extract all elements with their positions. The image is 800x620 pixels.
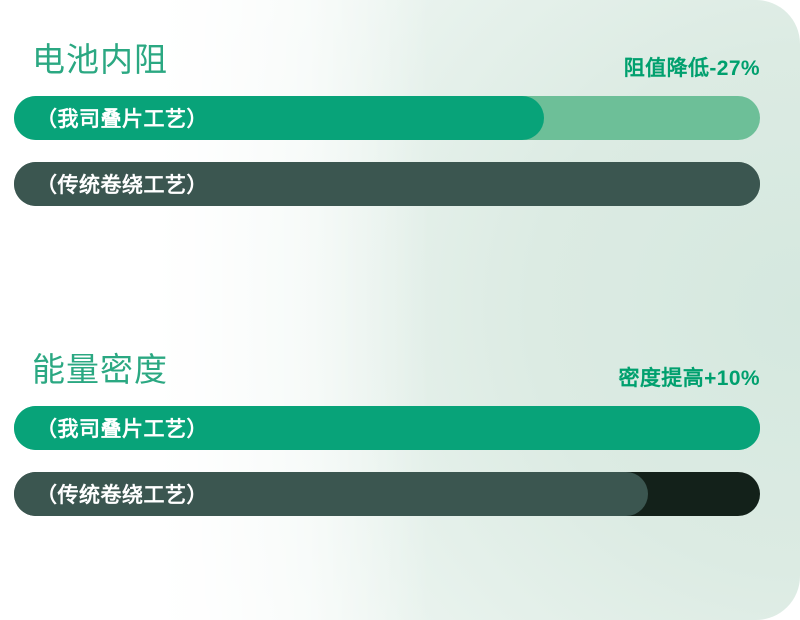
metric-delta-badge: 密度提高+10% [619, 365, 761, 393]
metric-group-internal-resistance: 电池内阻 阻值降低-27% （我司叠片工艺） （传统卷绕工艺） [0, 34, 800, 228]
metric-title: 电池内阻 [32, 38, 168, 82]
bar-list: （我司叠片工艺） （传统卷绕工艺） [0, 96, 800, 228]
bar-label: （传统卷绕工艺） [36, 472, 208, 516]
metric-delta-badge: 阻值降低-27% [624, 55, 760, 83]
metric-group-header: 电池内阻 阻值降低-27% [0, 34, 800, 96]
bar-row: （传统卷绕工艺） [0, 472, 800, 538]
bar-row: （我司叠片工艺） [0, 406, 800, 472]
bar-label: （我司叠片工艺） [36, 96, 208, 140]
bar-list: （我司叠片工艺） （传统卷绕工艺） [0, 406, 800, 538]
bar-row: （我司叠片工艺） [0, 96, 800, 162]
metric-group-energy-density: 能量密度 密度提高+10% （我司叠片工艺） （传统卷绕工艺） [0, 344, 800, 538]
metric-title: 能量密度 [32, 348, 168, 392]
infographic-canvas: 电池内阻 阻值降低-27% （我司叠片工艺） （传统卷绕工艺） 能量密度 密度提… [0, 0, 800, 620]
bar-label: （传统卷绕工艺） [36, 162, 208, 206]
bar-label: （我司叠片工艺） [36, 406, 208, 450]
bar-row: （传统卷绕工艺） [0, 162, 800, 228]
metric-group-header: 能量密度 密度提高+10% [0, 344, 800, 406]
